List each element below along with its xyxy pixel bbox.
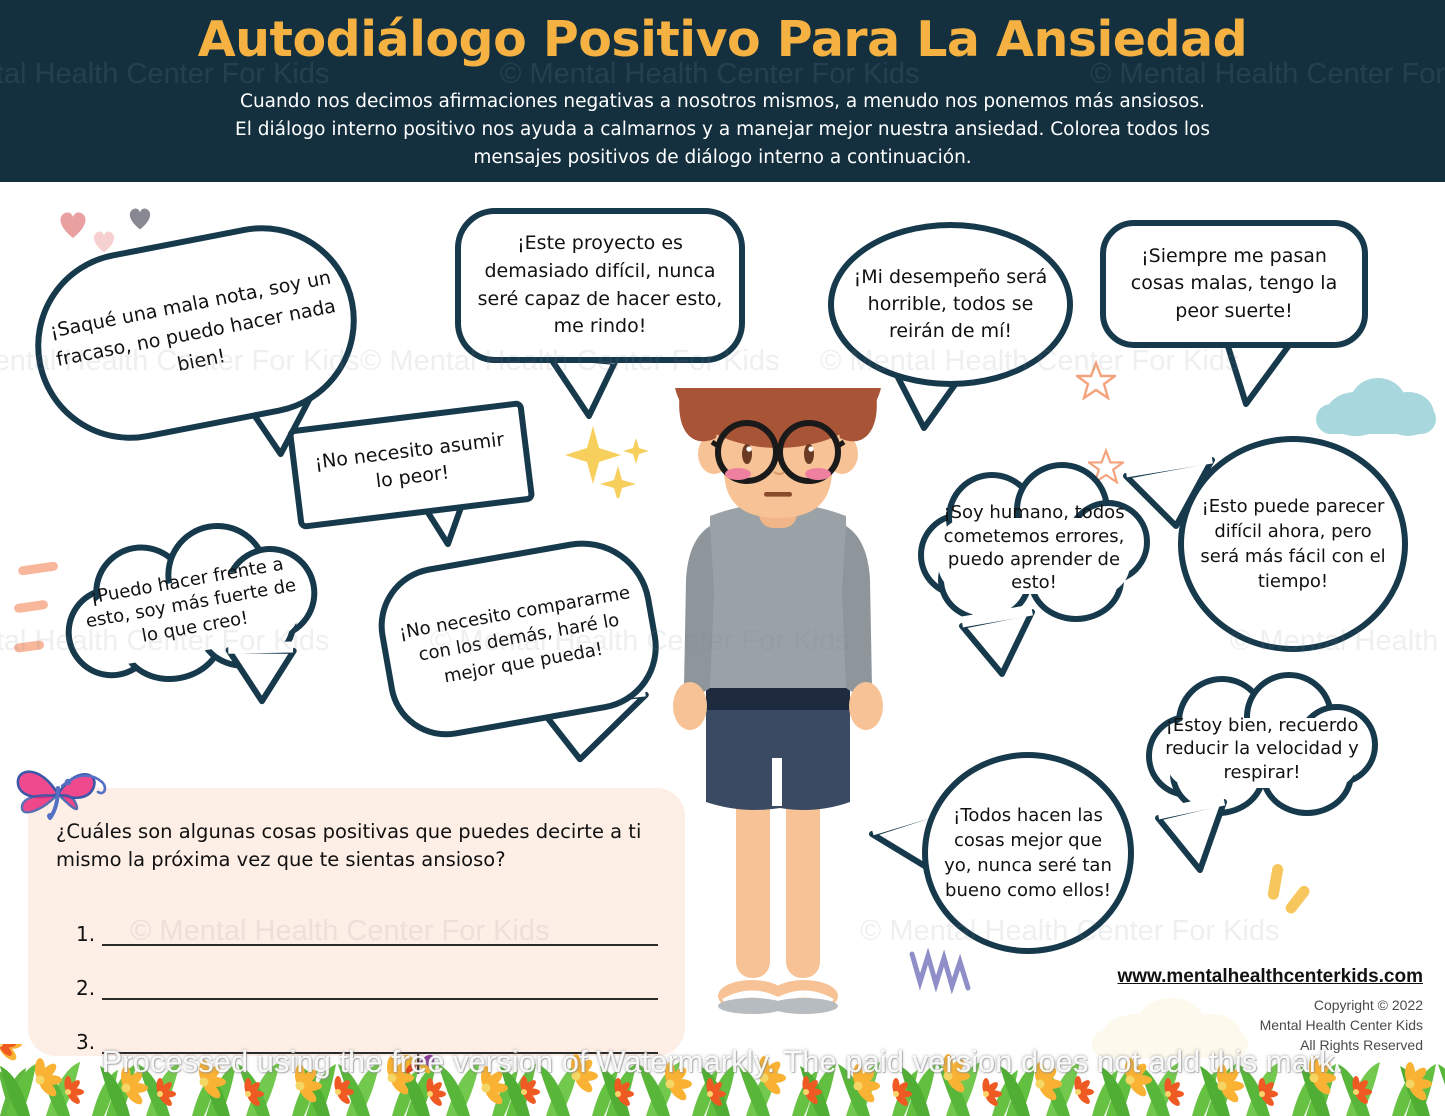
speech-bubble-positive-5: ¡Esto puede parecer difícil ahora, pero … <box>1178 436 1408 652</box>
speech-bubble-negative-2: ¡Este proyecto es demasiado difícil, nun… <box>455 208 745 363</box>
speech-bubble-text: ¡Esto puede parecer difícil ahora, pero … <box>1184 488 1402 601</box>
bubble-tail-icon <box>944 600 1046 684</box>
header-banner: Autodiálogo Positivo Para La Ansiedad Cu… <box>0 0 1445 182</box>
page-title: Autodiálogo Positivo Para La Ansiedad <box>0 14 1445 67</box>
reflection-question: ¿Cuáles son algunas cosas positivas que … <box>56 818 666 873</box>
star-outline-icon <box>1076 360 1116 400</box>
speech-bubble-text: ¡Todos hacen las cosas mejor que yo, nun… <box>928 797 1128 910</box>
header-subtitle-line-3: mensajes positivos de diálogo interno a … <box>133 144 1313 172</box>
speech-bubble-positive-1: ¡No necesito asumir lo peor! <box>287 400 536 530</box>
answer-number: 2. <box>76 976 102 1000</box>
speech-bubble-text: ¡Siempre me pasan cosas malas, tengo la … <box>1106 237 1362 332</box>
flower-border-decoration <box>0 1044 1445 1116</box>
speech-bubble-positive-3: ¡No necesito compararme con los demás, h… <box>369 530 669 747</box>
speech-bubble-negative-1: ¡Saqué una mala nota, soy un fracaso, no… <box>19 209 373 457</box>
butterfly-icon <box>6 748 118 840</box>
speech-bubble-positive-2: ¡Puedo hacer frente a esto, soy más fuer… <box>51 507 331 701</box>
answer-input-line[interactable] <box>102 926 658 946</box>
cloud-decoration-icon <box>1316 374 1445 438</box>
speech-bubble-text: ¡No necesito compararme con los demás, h… <box>382 572 655 705</box>
reflection-panel: ¿Cuáles son algunas cosas positivas que … <box>28 788 685 1056</box>
website-link[interactable]: www.mentalhealthcenterkids.com <box>1118 966 1424 988</box>
bubble-tail-icon <box>1146 788 1246 880</box>
answer-number: 1. <box>76 922 102 946</box>
heart-icon <box>126 205 154 231</box>
speech-bubble-positive-4: ¡Soy humano, todos cometemos errores, pu… <box>918 462 1150 634</box>
dash-marks-icon <box>14 560 60 670</box>
copyright-line-2: Mental Health Center Kids <box>1093 1016 1423 1036</box>
speech-bubble-text: ¡Mi desempeño será horrible, todos se re… <box>834 258 1067 351</box>
heart-icon <box>56 208 90 240</box>
header-subtitle-line-2: El diálogo interno positivo nos ayuda a … <box>133 116 1313 144</box>
speech-bubble-text: ¡Este proyecto es demasiado difícil, nun… <box>461 224 739 346</box>
speech-bubble-negative-4: ¡Siempre me pasan cosas malas, tengo la … <box>1100 220 1368 348</box>
speech-bubble-negative-5: ¡Todos hacen las cosas mejor que yo, nun… <box>922 752 1134 954</box>
speech-bubble-negative-3: ¡Mi desempeño será horrible, todos se re… <box>828 222 1073 387</box>
heart-icon <box>90 228 118 254</box>
dash-marks-icon <box>1266 862 1322 922</box>
speech-bubble-text: ¡No necesito asumir lo peor! <box>295 420 527 510</box>
header-subtitle-line-1: Cuando nos decimos afirmaciones negativa… <box>133 88 1313 116</box>
worksheet-page: Autodiálogo Positivo Para La Ansiedad Cu… <box>0 0 1445 1116</box>
answer-row-1[interactable]: 1. <box>76 916 658 946</box>
bubble-tail-icon <box>219 627 317 719</box>
flower-border-svg <box>0 1044 1445 1116</box>
header-subtitle: Cuando nos decimos afirmaciones negativa… <box>133 88 1313 172</box>
answer-row-2[interactable]: 2. <box>76 970 658 1000</box>
speech-bubble-positive-6: ¡Estoy bien, recuerdo reducir la velocid… <box>1146 670 1378 828</box>
answer-input-line[interactable] <box>102 980 658 1000</box>
copyright-line-1: Copyright © 2022 <box>1093 996 1423 1016</box>
speech-bubble-text: ¡Saqué una mala nota, soy un fracaso, no… <box>34 255 359 410</box>
butterfly-icon <box>398 1042 438 1082</box>
